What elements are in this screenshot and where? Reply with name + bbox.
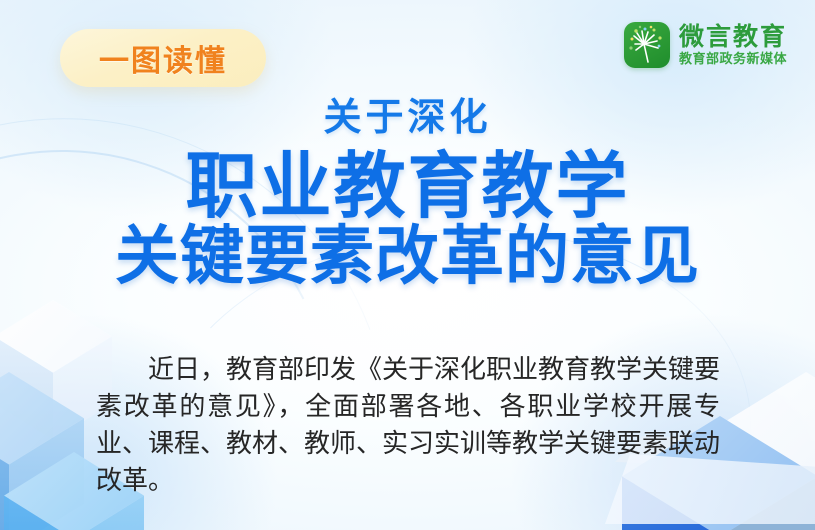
brand-title: 微言教育 xyxy=(679,24,787,49)
title-line-3: 关键要素改革的意见 xyxy=(0,222,815,294)
title-line-1: 关于深化 xyxy=(0,98,815,138)
brand-subtitle: 教育部政务新媒体 xyxy=(679,53,787,66)
page-title: 关于深化 职业教育教学 关键要素改革的意见 xyxy=(0,98,815,293)
infographic-poster: 一图读懂 xyxy=(0,0,815,530)
body-paragraph: 近日，教育部印发《关于深化职业教育教学关键要素改革的意见》，全面部署各地、各职业… xyxy=(96,352,720,500)
read-in-one-picture-badge: 一图读懂 xyxy=(60,29,266,87)
brand-logo: 微言教育 教育部政务新媒体 xyxy=(624,22,787,68)
dandelion-logo-icon xyxy=(624,22,670,68)
brand-text-block: 微言教育 教育部政务新媒体 xyxy=(679,24,787,66)
title-line-2: 职业教育教学 xyxy=(0,148,815,226)
badge-label: 一图读懂 xyxy=(99,36,227,80)
